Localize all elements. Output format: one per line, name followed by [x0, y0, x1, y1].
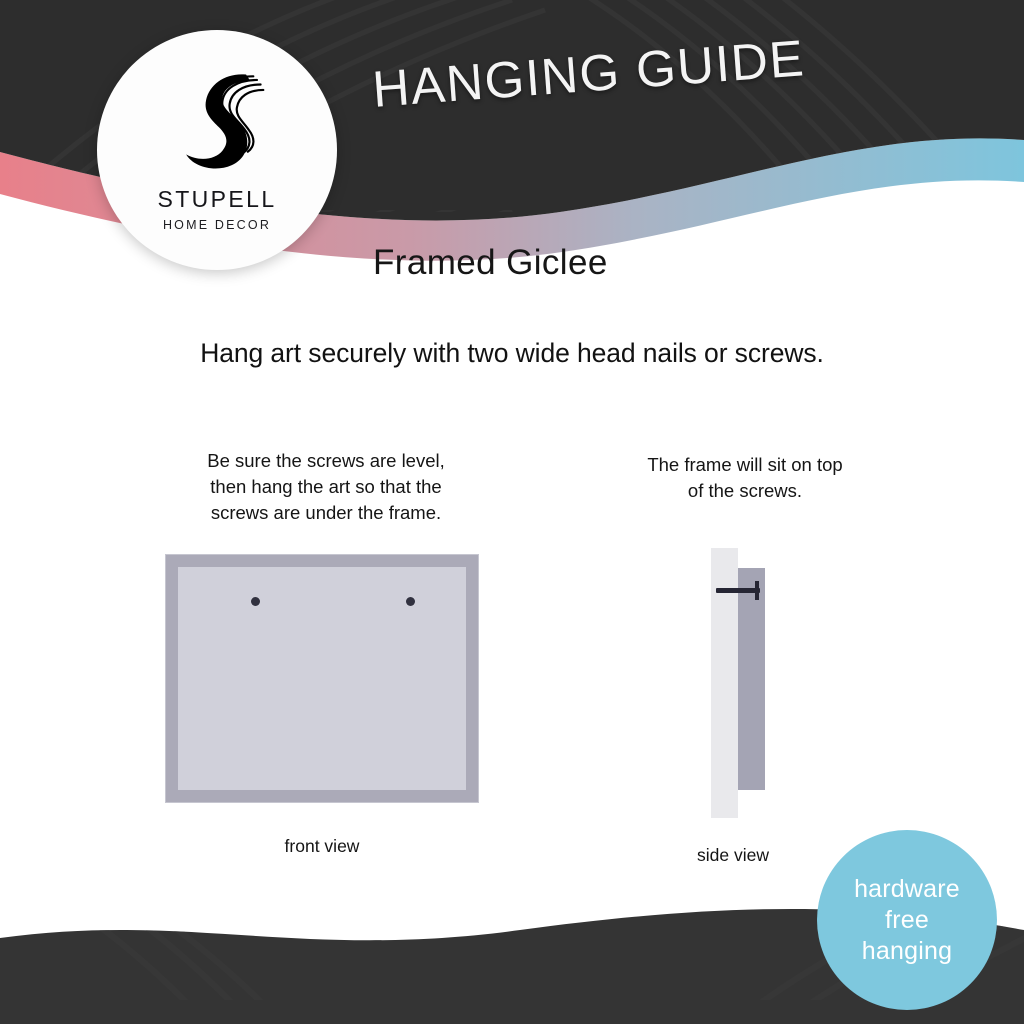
front-view-label: front view: [182, 836, 462, 857]
screw-dot-right: [406, 597, 415, 606]
page-title: HANGING GUIDE: [370, 28, 806, 119]
brand-logo-badge: STUPELL HOME DECOR: [97, 30, 337, 270]
badge-line-3: hanging: [862, 936, 952, 967]
side-caption-line-2: of the screws.: [600, 478, 890, 504]
main-instruction-text: Hang art securely with two wide head nai…: [0, 338, 1024, 369]
logo-tagline: HOME DECOR: [163, 218, 271, 232]
side-view-nail-shaft-icon: [716, 588, 760, 593]
screw-dot-left: [251, 597, 260, 606]
badge-line-2: free: [885, 905, 929, 936]
side-view-frame: [738, 568, 765, 790]
front-caption-line-1: Be sure the screws are level,: [166, 448, 486, 474]
side-caption-line-1: The frame will sit on top: [600, 452, 890, 478]
side-view-caption: The frame will sit on top of the screws.: [600, 452, 890, 504]
side-view-nail-head-icon: [755, 581, 759, 600]
stupell-s-swoosh-logo-icon: [162, 60, 272, 178]
logo-brand-name: STUPELL: [157, 186, 276, 213]
front-caption-line-2: then hang the art so that the: [166, 474, 486, 500]
badge-line-1: hardware: [854, 874, 960, 905]
front-caption-line-3: screws are under the frame.: [166, 500, 486, 526]
hardware-free-hanging-badge: hardware free hanging: [817, 830, 997, 1010]
product-subtitle: Framed Giclee: [373, 243, 608, 283]
front-view-caption: Be sure the screws are level, then hang …: [166, 448, 486, 526]
front-view-frame-diagram: [165, 554, 479, 803]
front-view-mat: [178, 567, 466, 790]
side-view-label: side view: [638, 845, 828, 866]
